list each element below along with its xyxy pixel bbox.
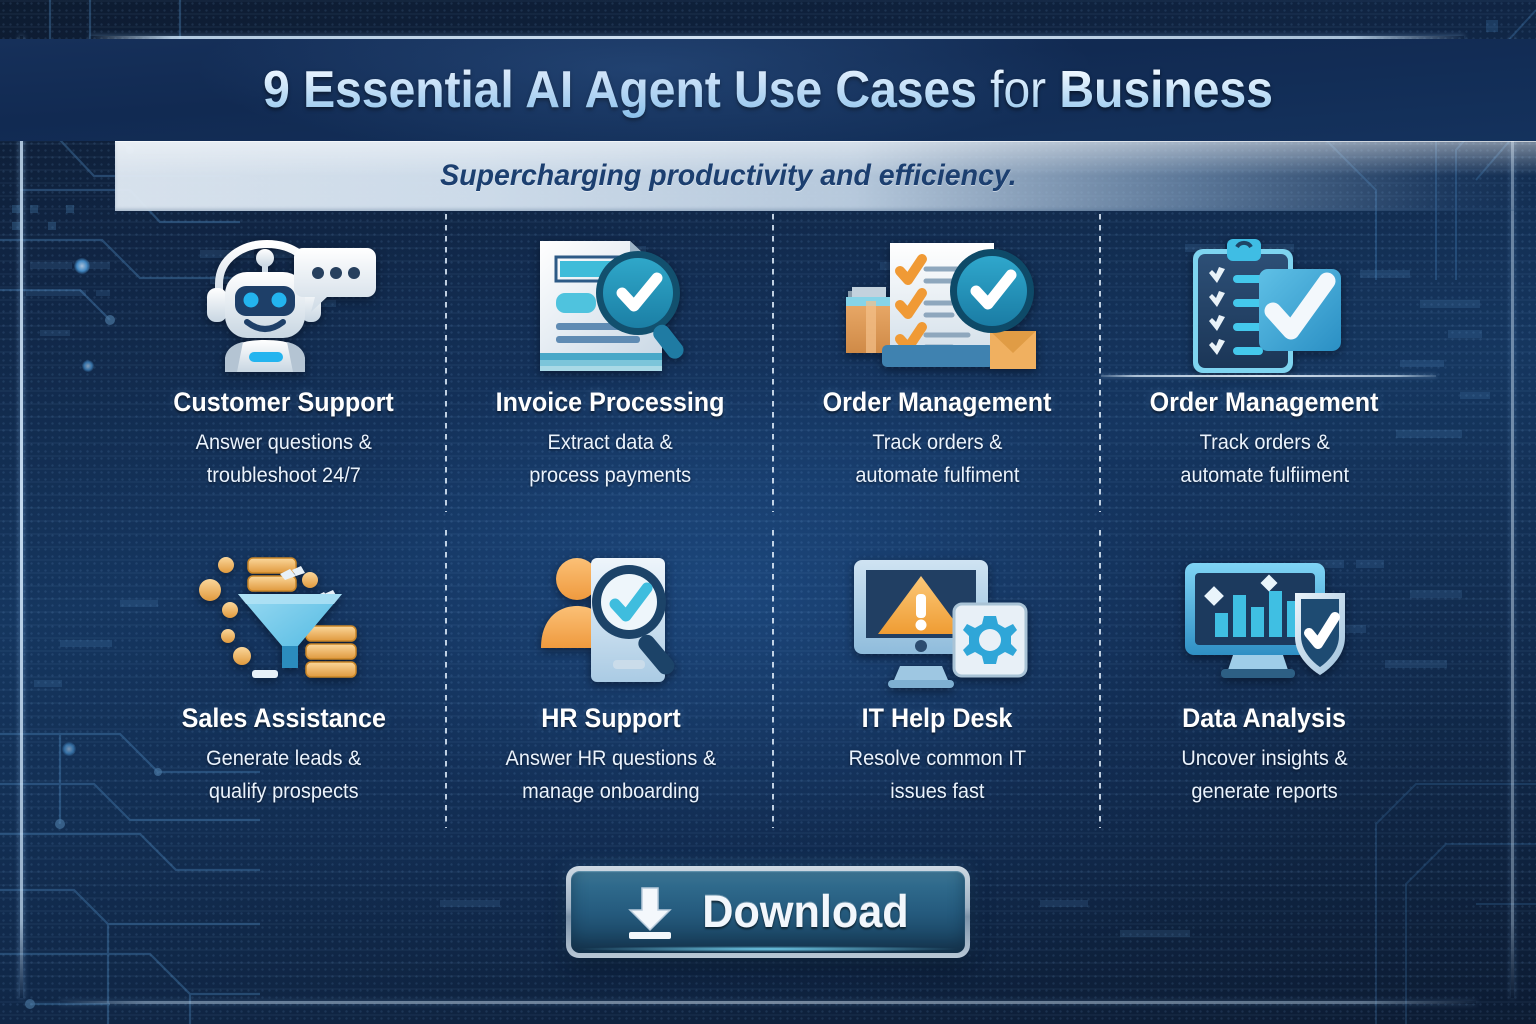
page-title: 9 Essential AI Agent Use Cases for Busin… bbox=[263, 60, 1273, 120]
card-description-line-1: Extract data & bbox=[530, 427, 692, 460]
use-case-card-it-help-desk[interactable]: IT Help Desk Resolve common IT issues fa… bbox=[774, 534, 1101, 850]
infographic-poster: 9 Essential AI Agent Use Cases for Busin… bbox=[0, 0, 1536, 1024]
invoice-magnifier-check-icon bbox=[526, 228, 696, 383]
glow-node-icon bbox=[62, 742, 76, 756]
card-description-line-1: Answer HR questions & bbox=[505, 743, 716, 776]
card-description-line-2: issues fast bbox=[849, 776, 1026, 809]
card-description-line-2: automate fulfiment bbox=[855, 460, 1019, 493]
header-band: 9 Essential AI Agent Use Cases for Busin… bbox=[0, 39, 1536, 141]
card-description-line-1: Answer questions & bbox=[195, 427, 371, 460]
card-description-line-2: manage onboarding bbox=[505, 776, 716, 809]
card-description: Generate leads & qualify prospects bbox=[206, 743, 361, 808]
cta-area: Download bbox=[0, 866, 1536, 958]
subtitle-band: Supercharging productivity and efficienc… bbox=[115, 141, 1536, 211]
use-case-card-sales-assistance[interactable]: Sales Assistance Generate leads & qualif… bbox=[120, 534, 447, 850]
use-case-card-order-management-1[interactable]: Order Management Track orders & automate… bbox=[774, 218, 1101, 534]
card-description: Resolve common IT issues fast bbox=[849, 743, 1026, 808]
page-title-emphasis: Business bbox=[1059, 61, 1273, 119]
card-description-line-2: automate fulfiiment bbox=[1180, 460, 1349, 493]
download-button[interactable]: Download bbox=[566, 866, 970, 958]
download-button-label: Download bbox=[702, 886, 908, 938]
card-description-line-1: Uncover insights & bbox=[1181, 743, 1347, 776]
card-description: Answer questions & troubleshoot 24/7 bbox=[195, 427, 371, 492]
monitor-warning-gear-icon bbox=[848, 544, 1028, 699]
use-case-grid: Customer Support Answer questions & trou… bbox=[120, 218, 1428, 850]
frame-line-left bbox=[20, 36, 23, 998]
card-description: Track orders & automate fulfiment bbox=[855, 427, 1019, 492]
card-description: Track orders & automate fulfiiment bbox=[1180, 427, 1349, 492]
use-case-card-hr-support[interactable]: HR Support Answer HR questions & manage … bbox=[447, 534, 774, 850]
card-title: Data Analysis bbox=[1183, 703, 1347, 734]
card-description: Extract data & process payments bbox=[530, 427, 692, 492]
card-title: Order Management bbox=[1150, 387, 1379, 418]
card-description-line-2: troubleshoot 24/7 bbox=[195, 460, 371, 493]
download-arrow-icon bbox=[624, 884, 676, 940]
person-document-magnifier-icon bbox=[531, 544, 691, 699]
card-title: Invoice Processing bbox=[496, 387, 725, 418]
sales-funnel-icon bbox=[194, 544, 374, 699]
card-title: IT Help Desk bbox=[862, 703, 1013, 734]
card-description-line-1: Resolve common IT bbox=[849, 743, 1026, 776]
card-title: HR Support bbox=[541, 703, 680, 734]
frame-line-bottom bbox=[60, 1001, 1476, 1004]
use-case-card-invoice-processing[interactable]: Invoice Processing Extract data & proces… bbox=[447, 218, 774, 534]
use-case-card-order-management-2[interactable]: Order Management Track orders & automate… bbox=[1101, 218, 1428, 534]
glow-node-icon bbox=[74, 258, 90, 274]
card-title: Order Management bbox=[823, 387, 1052, 418]
card-description-line-1: Generate leads & bbox=[206, 743, 361, 776]
card-description-line-2: qualify prospects bbox=[206, 776, 361, 809]
row-divider bbox=[1101, 375, 1436, 377]
card-description-line-2: process payments bbox=[530, 460, 692, 493]
glow-node-icon bbox=[82, 360, 94, 372]
use-case-card-customer-support[interactable]: Customer Support Answer questions & trou… bbox=[120, 218, 447, 534]
card-description: Uncover insights & generate reports bbox=[1181, 743, 1347, 808]
download-button-inner[interactable]: Download bbox=[571, 871, 965, 953]
page-title-connector: for bbox=[990, 61, 1046, 119]
clipboard-checkmark-icon bbox=[1185, 228, 1345, 383]
card-description: Answer HR questions & manage onboarding bbox=[505, 743, 716, 808]
page-subtitle: Supercharging productivity and efficienc… bbox=[440, 159, 1016, 193]
card-title: Sales Assistance bbox=[181, 703, 385, 734]
use-case-card-data-analysis[interactable]: Data Analysis Uncover insights & generat… bbox=[1101, 534, 1428, 850]
card-title: Customer Support bbox=[173, 387, 393, 418]
card-description-line-1: Track orders & bbox=[1180, 427, 1349, 460]
checklist-boxes-check-icon bbox=[840, 228, 1036, 383]
card-description-line-1: Track orders & bbox=[855, 427, 1019, 460]
monitor-chart-shield-icon bbox=[1179, 544, 1351, 699]
card-description-line-2: generate reports bbox=[1181, 776, 1347, 809]
page-title-main: 9 Essential AI Agent Use Cases bbox=[263, 61, 977, 119]
robot-chat-icon bbox=[191, 228, 377, 383]
